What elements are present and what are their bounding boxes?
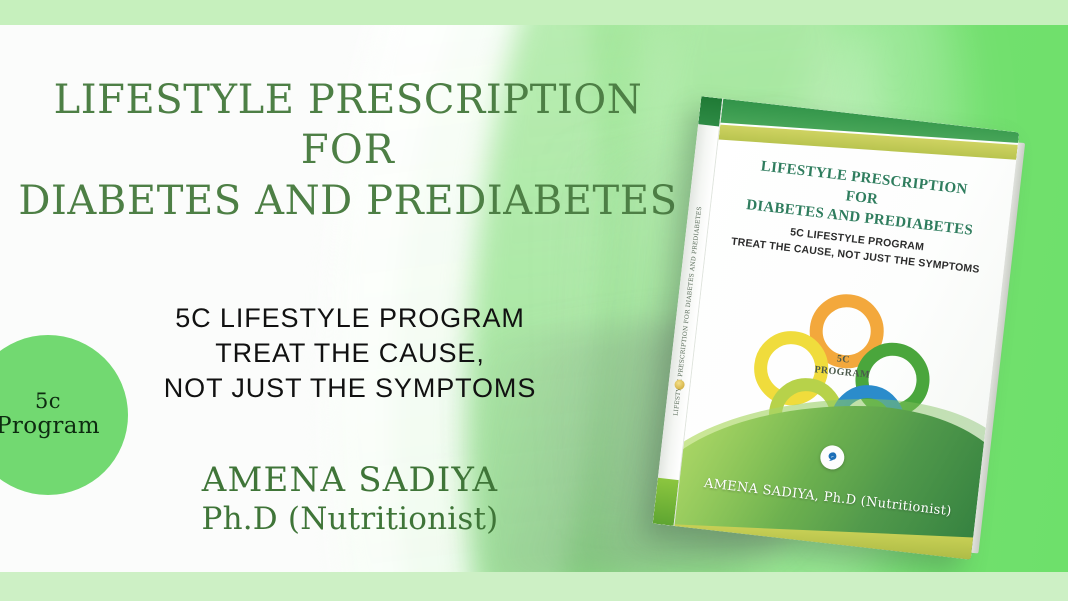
subheadline-line-2: TREAT THE CAUSE, (40, 336, 660, 371)
poster-author-block: AMENA SADIYA Ph.D (Nutritionist) (40, 460, 660, 538)
book-spine-top-band (698, 96, 722, 126)
book-front-cover: LIFESTYLE PRESCRIPTION FOR DIABETES AND … (675, 99, 1020, 560)
headline-line-1: LIFESTYLE PRESCRIPTION (18, 75, 678, 125)
book-body: LIFESTYLE PRESCRIPTION FOR DIABETES AND … (653, 96, 1020, 559)
artwork-plate: 5c Program LIFESTYLE PRESCRIPTION FOR DI… (0, 25, 1068, 572)
author-name: AMENA SADIYA (40, 460, 660, 501)
frame-top-band (0, 0, 1068, 25)
rings-center-label: 5C PROGRAM (814, 351, 872, 381)
book-mockup: LIFESTYLE PRESCRIPTION FOR DIABETES AND … (653, 96, 1020, 559)
poster-subheadline: 5C LIFESTYLE PROGRAM TREAT THE CAUSE, NO… (40, 301, 660, 406)
subheadline-line-1: 5C LIFESTYLE PROGRAM (40, 301, 660, 336)
badge-line-2: Program (0, 414, 100, 440)
poster-headline: LIFESTYLE PRESCRIPTION FOR DIABETES AND … (18, 75, 678, 226)
book-spine-emblem-icon (674, 379, 685, 390)
headline-line-2: FOR (18, 125, 678, 175)
subheadline-line-3: NOT JUST THE SYMPTOMS (40, 371, 660, 406)
headline-line-3: DIABETES AND PREDIABETES (18, 176, 678, 226)
author-credential: Ph.D (Nutritionist) (40, 501, 660, 538)
poster-canvas: 5c Program LIFESTYLE PRESCRIPTION FOR DI… (0, 0, 1068, 601)
frame-bottom-band (0, 572, 1068, 601)
